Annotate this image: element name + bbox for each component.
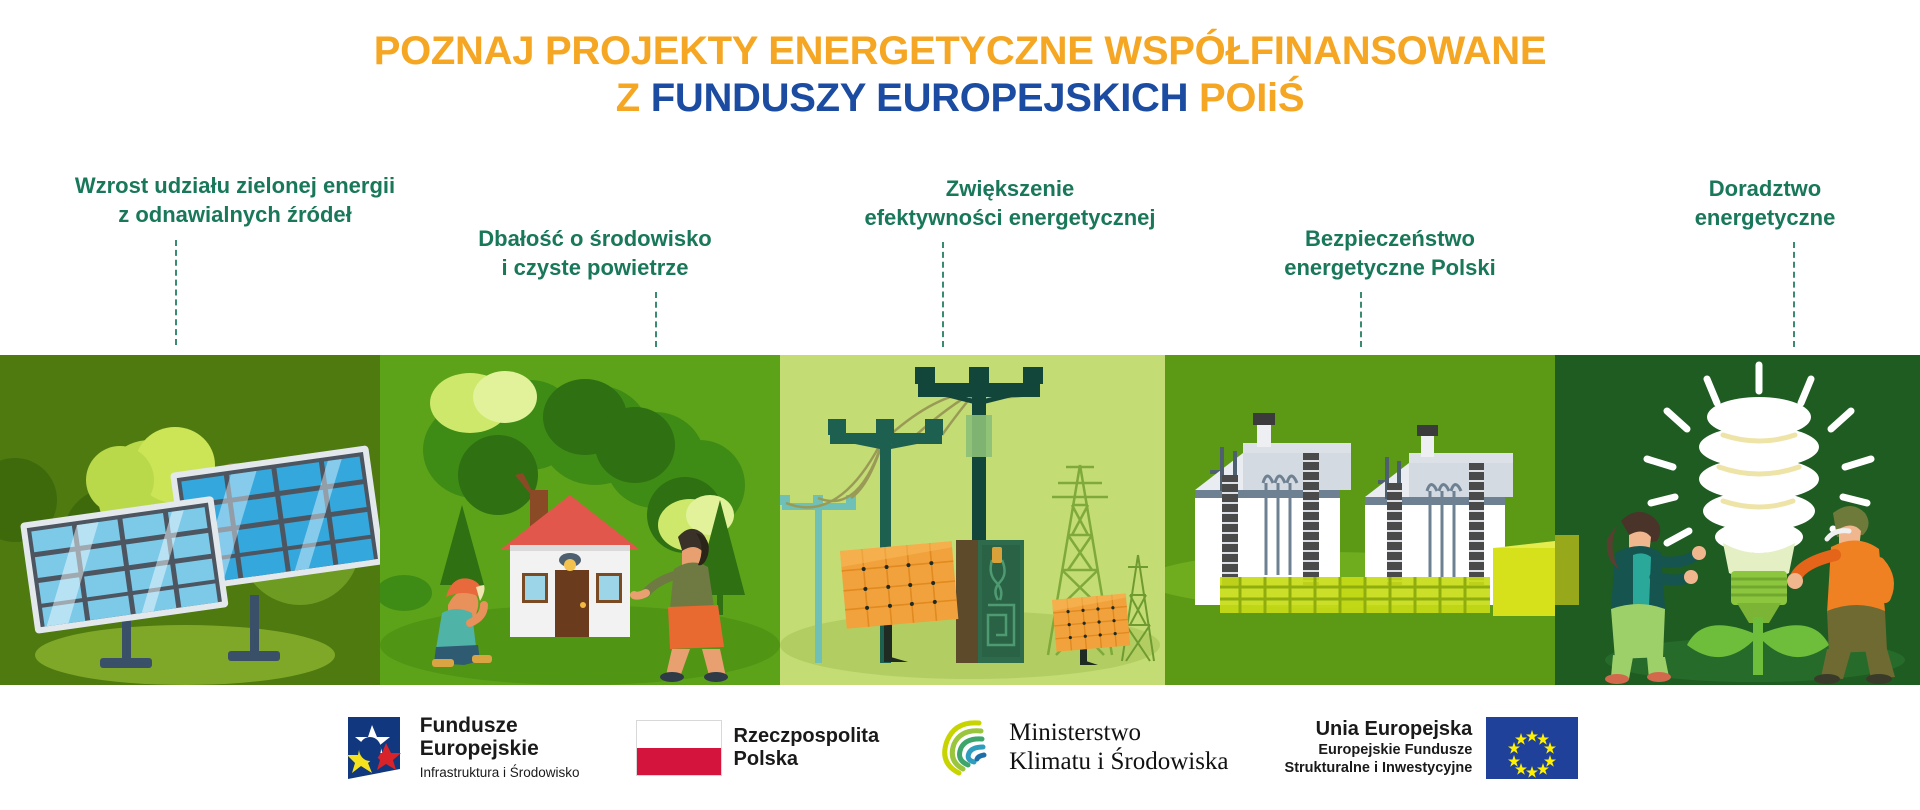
label-green-energy: Wzrost udziału zielonej energii z odnawi… — [0, 172, 470, 229]
ministerstwo-text: Ministerstwo Klimatu i Środowiska — [1009, 719, 1228, 777]
panel-storage-tanks — [1165, 355, 1555, 685]
tick-energy-efficiency — [942, 242, 944, 347]
solar-panels-illustration — [0, 355, 380, 685]
label-environment-air: Dbałość o środowisko i czyste powietrze — [410, 225, 780, 282]
tick-energy-security — [1360, 292, 1362, 347]
logo-fundusze-europejskie: Fundusze Europejskie Infrastruktura i Śr… — [342, 713, 580, 783]
panel-power-grid — [780, 355, 1165, 685]
house-trees-illustration — [380, 355, 780, 685]
panel-solar-panels — [0, 355, 380, 685]
ue-line-2: Europejskie Fundusze — [1285, 741, 1473, 759]
rp-line-2: Polska — [734, 748, 880, 771]
logo-rzeczpospolita-polska: Rzeczpospolita Polska — [636, 720, 880, 776]
ue-line-3: Strukturalne i Inwestycyjne — [1285, 759, 1473, 777]
logo-ministerstwo-klimatu: Ministerstwo Klimatu i Środowiska — [935, 713, 1228, 783]
unia-europejska-text: Unia Europejska Europejskie Fundusze Str… — [1285, 718, 1473, 777]
fundusze-europejskie-mark — [342, 713, 408, 783]
rzeczpospolita-text: Rzeczpospolita Polska — [734, 725, 880, 771]
power-grid-illustration — [780, 355, 1165, 685]
infographic-banner: POZNAJ PROJEKTY ENERGETYCZNE WSPÓŁFINANS… — [0, 0, 1920, 810]
storage-tanks-illustration — [1165, 355, 1555, 685]
poland-flag-icon — [636, 720, 722, 776]
panel-light-bulb-plant — [1555, 355, 1920, 685]
fe-line-3: Infrastruktura i Środowisko — [420, 764, 580, 782]
logo-unia-europejska: Unia Europejska Europejskie Fundusze Str… — [1285, 717, 1579, 779]
fe-line-1: Fundusze — [420, 714, 580, 738]
panel-house-trees — [380, 355, 780, 685]
footer-logo-bar: Fundusze Europejskie Infrastruktura i Śr… — [0, 685, 1920, 810]
illustration-strip — [0, 355, 1920, 685]
min-line-2: Klimatu i Środowiska — [1009, 748, 1228, 777]
fundusze-europejskie-text: Fundusze Europejskie Infrastruktura i Śr… — [420, 714, 580, 782]
label-energy-advisory: Doradztwo energetyczne — [1610, 175, 1920, 232]
bulb-plant-illustration — [1555, 355, 1920, 685]
tick-environment-air — [655, 292, 657, 347]
eu-flag-icon — [1486, 717, 1578, 779]
min-line-1: Ministerstwo — [1009, 719, 1228, 748]
tick-green-energy — [175, 240, 177, 345]
label-energy-efficiency: Zwiększenie efektywności energetycznej — [800, 175, 1220, 232]
fe-line-2: Europejskie — [420, 737, 580, 761]
ministerstwo-spiral-icon — [935, 713, 997, 783]
label-energy-security: Bezpieczeństwo energetyczne Polski — [1210, 225, 1570, 282]
rp-line-1: Rzeczpospolita — [734, 725, 880, 748]
tick-energy-advisory — [1793, 242, 1795, 347]
ue-line-1: Unia Europejska — [1285, 718, 1473, 741]
label-group: Wzrost udziału zielonej energii z odnawi… — [0, 0, 1920, 355]
